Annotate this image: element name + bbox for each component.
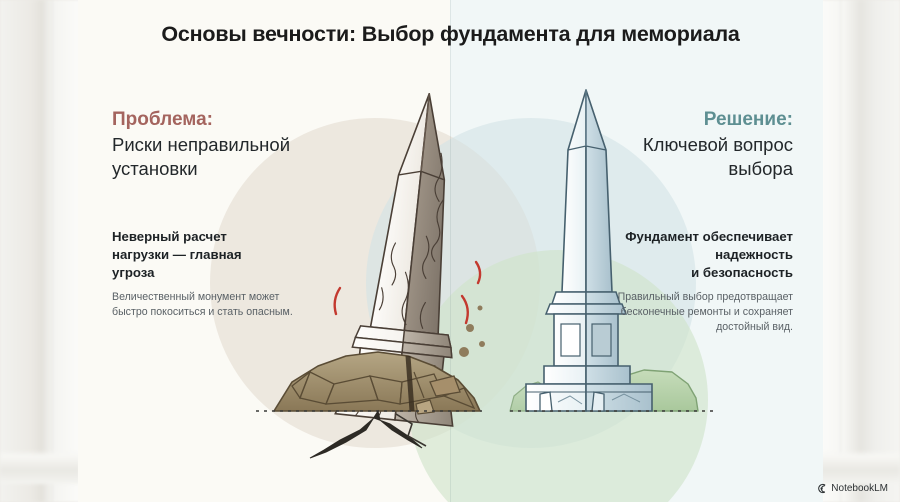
solution-subhead-line2: выбора — [578, 157, 793, 181]
problem-block-heading-line2: нагрузки — главная — [112, 246, 302, 264]
watermark: NotebookLM — [816, 483, 888, 494]
problem-eyebrow: Проблема: — [112, 108, 340, 132]
problem-subhead-line1: Риски неправильной — [112, 133, 340, 157]
right-column-backdrop — [818, 0, 900, 502]
problem-heading-block: Проблема: Риски неправильной установки — [112, 108, 340, 181]
solution-subhead-line1: Ключевой вопрос — [578, 133, 793, 157]
problem-detail-block: Неверный расчет нагрузки — главная угроз… — [112, 228, 302, 320]
watermark-label: NotebookLM — [831, 483, 888, 494]
problem-block-heading-line1: Неверный расчет — [112, 228, 302, 246]
notebooklm-spiral-icon — [816, 483, 827, 494]
solution-heading-block: Решение: Ключевой вопрос выбора — [578, 108, 793, 181]
left-column-backdrop — [0, 0, 80, 502]
solution-detail-block: Фундамент обеспечивает надежность и безо… — [593, 228, 793, 336]
problem-body-text: Величественный монумент может быстро пок… — [112, 290, 302, 321]
solution-eyebrow: Решение: — [578, 108, 793, 132]
page-title: Основы вечности: Выбор фундамента для ме… — [78, 22, 823, 47]
problem-block-heading-line3: угроза — [112, 264, 302, 282]
problem-subhead-line2: установки — [112, 157, 340, 181]
solution-block-heading-line2: надежность — [593, 246, 793, 264]
solution-block-heading-line1: Фундамент обеспечивает — [593, 228, 793, 246]
solution-block-heading-line3: и безопасность — [593, 264, 793, 282]
infographic-canvas: Основы вечности: Выбор фундамента для ме… — [0, 0, 900, 502]
solution-body-text: Правильный выбор предотвращает бесконечн… — [593, 290, 793, 336]
infographic-card: Основы вечности: Выбор фундамента для ме… — [78, 0, 823, 502]
